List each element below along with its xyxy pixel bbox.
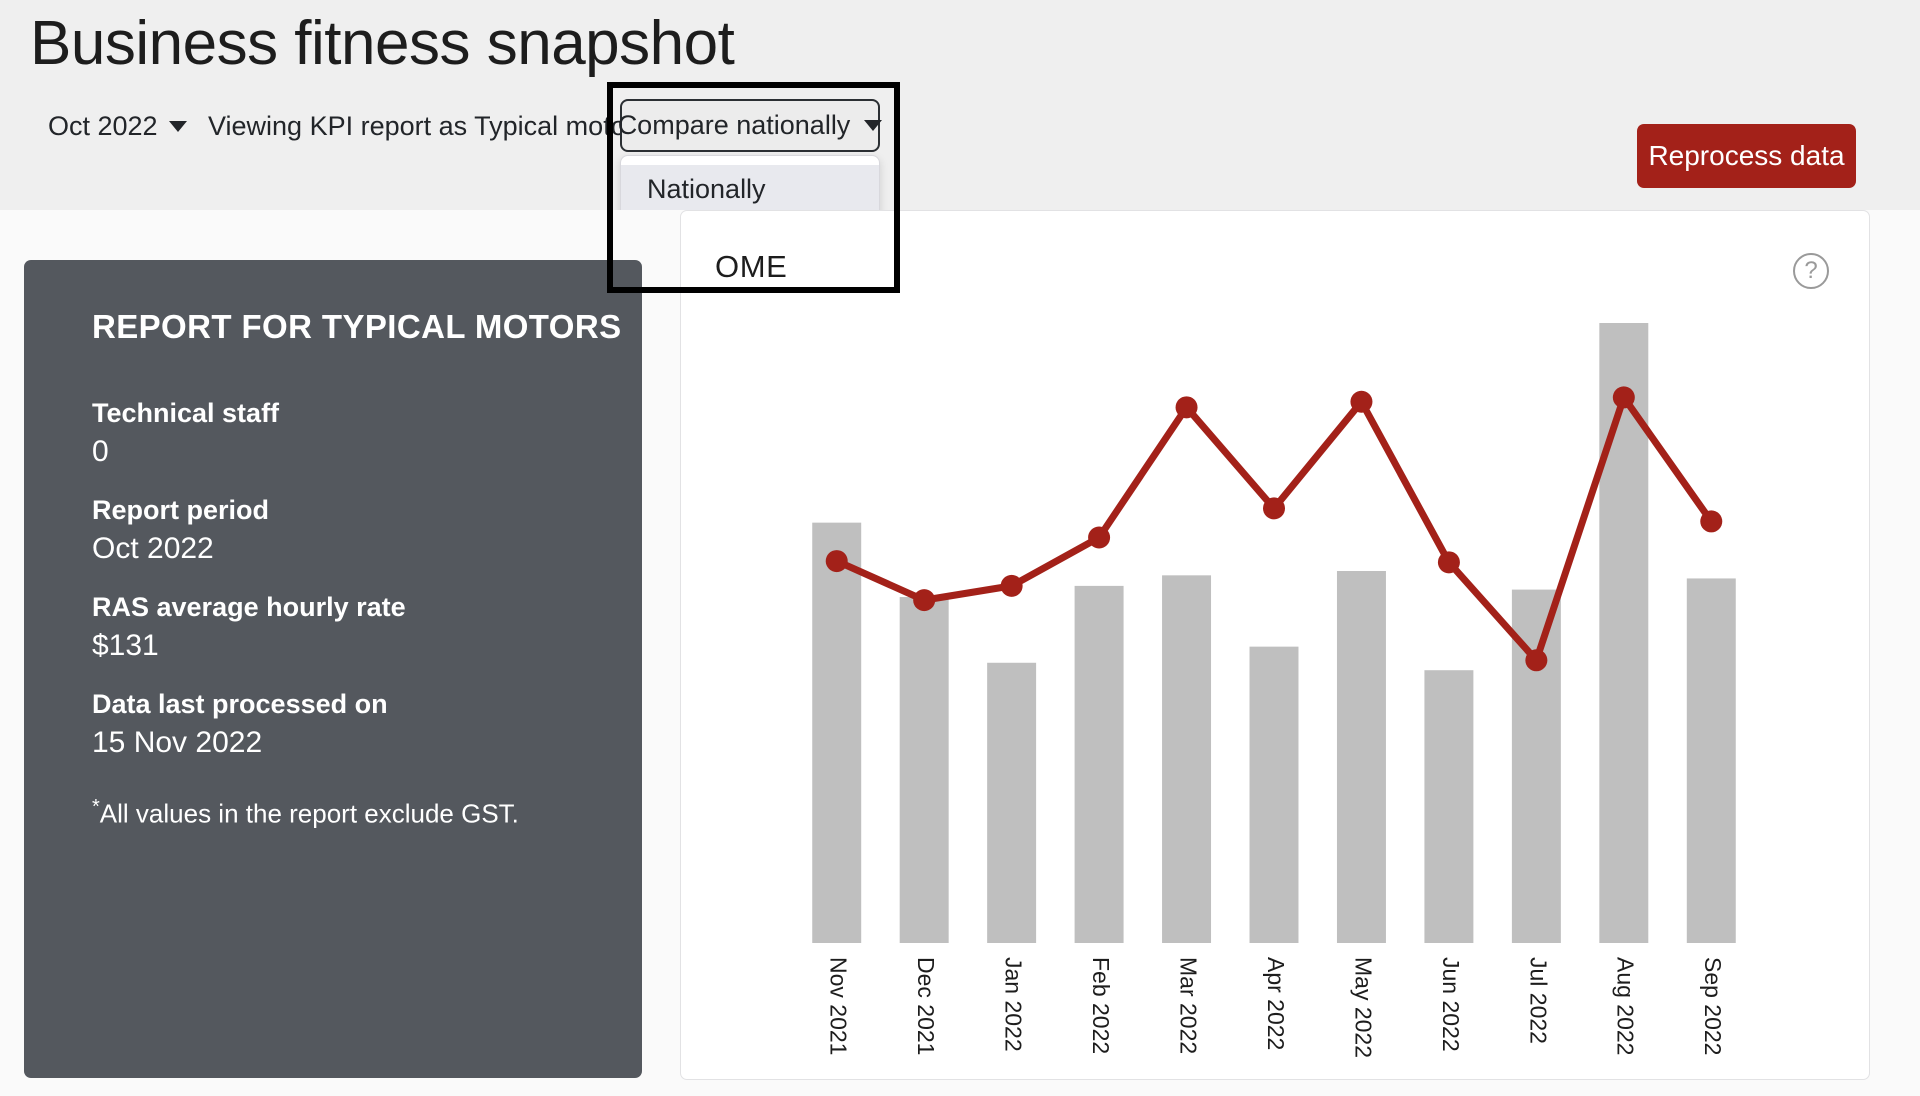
chart-bar: [1424, 670, 1473, 943]
chart-bar: [1250, 647, 1299, 943]
chart-card: OME ? Nov 2021Dec 2021Jan 2022Feb 2022Ma…: [680, 210, 1870, 1080]
chart-data-point: [1700, 510, 1722, 532]
x-axis-tick-label: Feb 2022: [1088, 957, 1114, 1054]
chart-trend-line: [837, 397, 1712, 660]
field-value: Oct 2022: [92, 532, 642, 566]
chart-bar: [1162, 575, 1211, 943]
chevron-down-icon: [169, 121, 187, 132]
chart-bar: [1075, 586, 1124, 943]
help-icon[interactable]: ?: [1793, 253, 1829, 289]
chart-svg: Nov 2021Dec 2021Jan 2022Feb 2022Mar 2022…: [715, 301, 1835, 1061]
report-summary-title: REPORT FOR TYPICAL MOTORS: [92, 308, 642, 346]
compare-dropdown-button[interactable]: Compare nationally: [620, 99, 880, 152]
field-label: Technical staff: [92, 398, 642, 429]
x-axis-tick-label: Jan 2022: [1001, 957, 1027, 1052]
summary-field-ras-average-hourly-rate: RAS average hourly rate $131: [92, 592, 642, 663]
x-axis-tick-label: May 2022: [1350, 957, 1376, 1058]
summary-field-report-period: Report period Oct 2022: [92, 495, 642, 566]
chart-data-point: [1438, 551, 1460, 573]
summary-field-data-last-processed-on: Data last processed on 15 Nov 2022: [92, 689, 642, 760]
view-as-selector-label: Viewing KPI report as Typical motors: [208, 111, 648, 142]
chart-data-point: [1088, 527, 1110, 549]
x-axis-tick-label: Aug 2022: [1613, 957, 1639, 1055]
x-axis-tick-label: Dec 2021: [913, 957, 939, 1055]
chart-data-point: [1001, 575, 1023, 597]
app-header: Business fitness snapshot Oct 2022 Viewi…: [0, 0, 1920, 210]
page-title: Business fitness snapshot: [30, 8, 734, 79]
chevron-down-icon: [864, 120, 882, 131]
footnote-marker: *: [92, 796, 100, 818]
field-value: 15 Nov 2022: [92, 726, 642, 760]
gst-footnote: *All values in the report exclude GST.: [92, 796, 642, 830]
chart-bar: [987, 663, 1036, 943]
field-label: RAS average hourly rate: [92, 592, 642, 623]
view-as-selector[interactable]: Viewing KPI report as Typical motors: [208, 111, 677, 142]
x-axis-tick-label: Apr 2022: [1263, 957, 1289, 1050]
compare-option-label: Nationally: [647, 174, 766, 205]
compare-dropdown: Compare nationally Nationally With my st…: [620, 99, 880, 152]
summary-field-technical-staff: Technical staff 0: [92, 398, 642, 469]
x-axis-tick-label: Jun 2022: [1438, 957, 1464, 1052]
chart-bar: [1687, 578, 1736, 943]
report-summary-panel: REPORT FOR TYPICAL MOTORS Technical staf…: [24, 260, 642, 1078]
combo-chart: Nov 2021Dec 2021Jan 2022Feb 2022Mar 2022…: [715, 301, 1835, 1061]
field-label: Report period: [92, 495, 642, 526]
chart-data-point: [1350, 391, 1372, 413]
chart-title: OME: [715, 249, 787, 285]
chart-data-point: [1176, 396, 1198, 418]
x-axis-tick-label: Jul 2022: [1525, 957, 1551, 1044]
compare-option-nationally[interactable]: Nationally: [621, 165, 879, 214]
field-label: Data last processed on: [92, 689, 642, 720]
chart-data-point: [826, 550, 848, 572]
chart-bar: [900, 597, 949, 943]
reprocess-data-button[interactable]: Reprocess data: [1637, 124, 1856, 188]
main-content: REPORT FOR TYPICAL MOTORS Technical staf…: [0, 210, 1920, 1096]
x-axis-tick-label: Nov 2021: [826, 957, 852, 1055]
footnote-text: All values in the report exclude GST.: [100, 799, 519, 829]
period-selector[interactable]: Oct 2022: [48, 111, 187, 142]
chart-data-point: [1613, 386, 1635, 408]
x-axis-tick-label: Mar 2022: [1175, 957, 1201, 1054]
chart-data-point: [1263, 497, 1285, 519]
compare-dropdown-label: Compare nationally: [618, 110, 851, 141]
period-selector-label: Oct 2022: [48, 111, 158, 142]
field-value: $131: [92, 629, 642, 663]
chart-bar: [812, 523, 861, 943]
x-axis-tick-label: Sep 2022: [1700, 957, 1726, 1055]
chart-data-point: [913, 589, 935, 611]
chart-bar: [1337, 571, 1386, 943]
chart-data-point: [1525, 649, 1547, 671]
field-value: 0: [92, 435, 642, 469]
